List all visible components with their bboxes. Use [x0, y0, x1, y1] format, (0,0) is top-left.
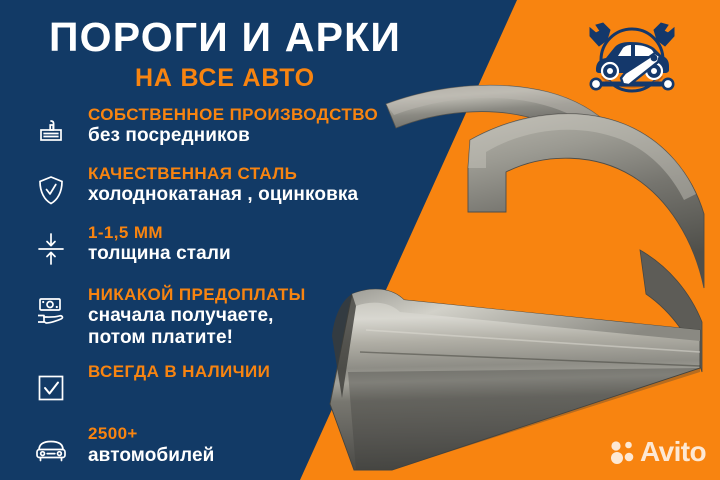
feature-title: НИКАКОЙ ПРЕДОПЛАТЫ — [88, 285, 306, 305]
feature-item-prepayment: НИКАКОЙ ПРЕДОПЛАТЫ сначала получаете, по… — [30, 285, 430, 349]
feature-title: КАЧЕСТВЕННАЯ СТАЛЬ — [88, 164, 358, 184]
feature-subtitle: сначала получаете, — [88, 305, 306, 327]
feature-item-production: СОБСТВЕННОЕ ПРОИЗВОДСТВО без посредников — [30, 105, 430, 153]
feature-text-prepayment: НИКАКОЙ ПРЕДОПЛАТЫ сначала получаете, по… — [72, 285, 306, 349]
headline-block: ПОРОГИ И АРКИ НА ВСЕ АВТО — [0, 16, 450, 93]
feature-item-thickness: 1-1,5 ММ толщина стали — [30, 223, 430, 271]
feature-text-steel: КАЧЕСТВЕННАЯ СТАЛЬ холоднокатаная , оцин… — [72, 164, 358, 206]
feature-subtitle: холоднокатаная , оцинковка — [88, 184, 358, 206]
feature-item-stock: ВСЕГДА В НАЛИЧИИ — [30, 362, 430, 410]
avito-dots-icon — [609, 439, 635, 465]
car-front-icon — [30, 428, 72, 472]
feature-subtitle: без посредников — [88, 125, 378, 147]
advert-poster: ПОРОГИ И АРКИ НА ВСЕ АВТО СОБСТВЕННОЕ ПР… — [0, 0, 720, 480]
feature-list: СОБСТВЕННОЕ ПРОИЗВОДСТВО без посредников… — [30, 105, 430, 480]
feature-text-stock: ВСЕГДА В НАЛИЧИИ — [72, 362, 270, 382]
feature-subtitle: автомобилей — [88, 445, 214, 467]
feature-subtitle-second-line: потом платите! — [88, 327, 306, 349]
feature-text-thickness: 1-1,5 ММ толщина стали — [72, 223, 231, 265]
feature-title: СОБСТВЕННОЕ ПРОИЗВОДСТВО — [88, 105, 378, 125]
page-title: ПОРОГИ И АРКИ — [0, 16, 450, 59]
feature-subtitle: толщина стали — [88, 243, 231, 265]
avito-watermark: Avito — [609, 438, 706, 466]
page-subtitle: НА ВСЕ АВТО — [0, 65, 450, 93]
car-wrench-emblem — [562, 14, 702, 110]
feature-text-production: СОБСТВЕННОЕ ПРОИЗВОДСТВО без посредников — [72, 105, 378, 147]
shield-check-icon — [30, 168, 72, 212]
feature-title: ВСЕГДА В НАЛИЧИИ — [88, 362, 270, 382]
feature-text-cars: 2500+ автомобилей — [72, 424, 214, 466]
factory-icon — [30, 109, 72, 153]
feature-item-cars: 2500+ автомобилей — [30, 424, 430, 472]
thickness-arrows-icon — [30, 227, 72, 271]
feature-item-steel: КАЧЕСТВЕННАЯ СТАЛЬ холоднокатаная , оцин… — [30, 164, 430, 212]
feature-title: 2500+ — [88, 424, 214, 444]
feature-title: 1-1,5 ММ — [88, 223, 231, 243]
avito-wordmark: Avito — [640, 438, 706, 466]
checkbox-icon — [30, 366, 72, 410]
hand-money-icon — [30, 289, 72, 333]
